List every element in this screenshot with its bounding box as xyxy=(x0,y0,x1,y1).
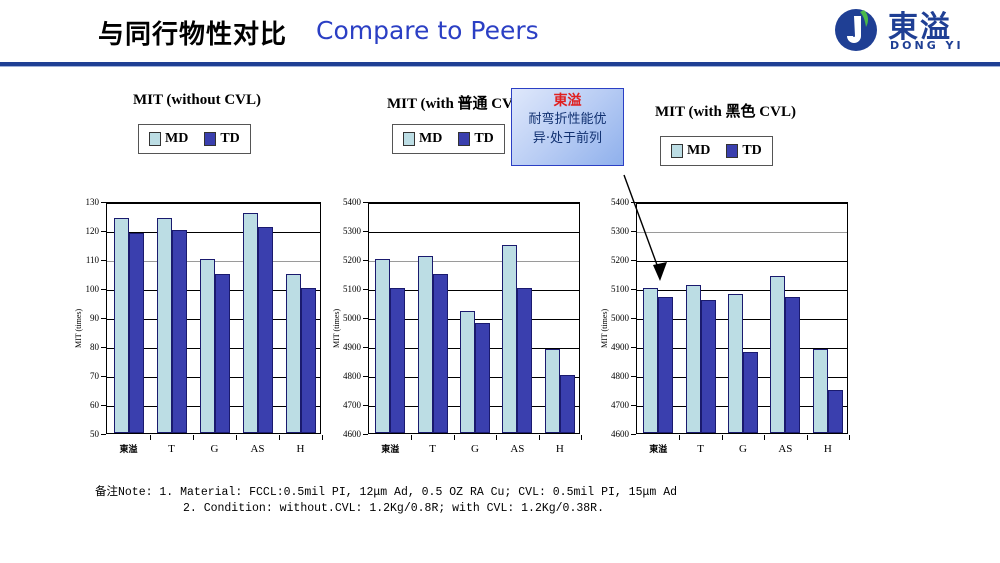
y-tick-label: 5400 xyxy=(330,197,361,207)
company-logo: 東溢 DONG YI xyxy=(834,4,984,58)
x-tickmark xyxy=(539,435,540,440)
legend-label-td: TD xyxy=(474,131,493,147)
y-tickmark xyxy=(101,405,106,406)
footnotes: 备注Note: 1. Material: FCCL:0.5mil PI, 12μ… xyxy=(95,485,925,517)
plot-box: 東溢TGASH xyxy=(106,202,321,434)
x-tickmark xyxy=(322,435,323,440)
legend-swatch-td-icon xyxy=(458,132,470,146)
bar-md-3 xyxy=(502,245,517,434)
bar-td-1 xyxy=(172,230,187,433)
chart-title: MIT (without CVL) xyxy=(72,92,322,109)
y-tickmark xyxy=(101,434,106,435)
x-tick-label: T xyxy=(411,443,453,455)
dongyi-logo-icon xyxy=(834,6,882,54)
y-tickmark xyxy=(101,376,106,377)
legend-item-md: MD xyxy=(149,131,188,147)
x-tickmark xyxy=(807,435,808,440)
y-tickmark xyxy=(363,260,368,261)
x-tickmark xyxy=(581,435,582,440)
legend-item-td: TD xyxy=(204,131,239,147)
bar-md-2 xyxy=(200,259,215,433)
y-tickmark xyxy=(631,347,636,348)
gridline xyxy=(107,203,320,204)
page-title-en: Compare to Peers xyxy=(316,16,539,45)
y-tickmark xyxy=(363,376,368,377)
y-tickmark xyxy=(101,260,106,261)
y-tick-label: 5300 xyxy=(330,226,361,236)
bar-md-3 xyxy=(243,213,258,433)
legend-label-md: MD xyxy=(165,131,188,147)
y-tick-label: 5100 xyxy=(330,284,361,294)
y-tickmark xyxy=(363,405,368,406)
y-tickmark xyxy=(363,231,368,232)
y-tickmark xyxy=(363,289,368,290)
bar-td-1 xyxy=(433,274,448,434)
chart-legend: MD TD xyxy=(392,124,505,154)
x-tickmark xyxy=(454,435,455,440)
y-tick-label: 4600 xyxy=(330,429,361,439)
y-tickmark xyxy=(363,318,368,319)
y-tick-label: 4800 xyxy=(598,371,629,381)
y-tickmark xyxy=(631,405,636,406)
x-tickmark xyxy=(679,435,680,440)
bar-td-3 xyxy=(258,227,273,433)
bar-md-4 xyxy=(286,274,301,434)
y-tickmark xyxy=(631,318,636,319)
callout-line-1: 耐弯折性能优 xyxy=(512,110,623,129)
page-title-cn: 与同行物性对比 xyxy=(98,14,287,51)
y-tickmark xyxy=(363,347,368,348)
page-header: 与同行物性对比 Compare to Peers 東溢 DONG YI xyxy=(0,0,1000,62)
y-tickmark xyxy=(101,202,106,203)
gridline xyxy=(369,203,579,204)
x-tick-label: AS xyxy=(764,443,806,455)
y-tickmark xyxy=(631,376,636,377)
x-tickmark xyxy=(236,435,237,440)
y-tickmark xyxy=(631,434,636,435)
x-tickmark xyxy=(150,435,151,440)
y-tick-label: 130 xyxy=(72,197,99,207)
x-tick-label: AS xyxy=(496,443,538,455)
legend-label-td: TD xyxy=(742,143,761,159)
legend-item-td: TD xyxy=(726,143,761,159)
y-tickmark xyxy=(101,318,106,319)
bar-td-2 xyxy=(215,274,230,434)
footnote-line-1: 备注Note: 1. Material: FCCL:0.5mil PI, 12μ… xyxy=(95,485,925,501)
plot-box: 東溢TGASH xyxy=(368,202,580,434)
y-tick-label: 90 xyxy=(72,313,99,323)
y-tick-label: 60 xyxy=(72,400,99,410)
x-tickmark xyxy=(764,435,765,440)
x-tick-label: H xyxy=(807,443,849,455)
logo-text-en: DONG YI xyxy=(890,39,964,52)
header-divider-thin xyxy=(0,66,1000,67)
legend-label-td: TD xyxy=(220,131,239,147)
bar-td-2 xyxy=(475,323,490,433)
legend-swatch-td-icon xyxy=(204,132,216,146)
bar-md-0 xyxy=(114,218,129,433)
y-tick-label: 5200 xyxy=(330,255,361,265)
x-tick-label: G xyxy=(454,443,496,455)
bar-td-4 xyxy=(560,375,575,433)
highlight-callout: 東溢 耐弯折性能优 异·处于前列 xyxy=(511,88,624,166)
x-tick-label: AS xyxy=(236,443,279,455)
x-tick-label: G xyxy=(722,443,764,455)
legend-swatch-md-icon xyxy=(149,132,161,146)
x-tickmark xyxy=(411,435,412,440)
bar-md-1 xyxy=(686,285,701,433)
y-tick-label: 4900 xyxy=(598,342,629,352)
y-tick-label: 5000 xyxy=(330,313,361,323)
y-tickmark xyxy=(101,347,106,348)
y-tick-label: 100 xyxy=(72,284,99,294)
chart-panel-without-cvl: MIT (without CVL) MD TD MIT (times)東溢TGA… xyxy=(72,92,322,482)
y-tickmark xyxy=(101,289,106,290)
bar-td-1 xyxy=(701,300,716,433)
y-tickmark xyxy=(363,202,368,203)
y-tick-label: 4900 xyxy=(330,342,361,352)
legend-swatch-td-icon xyxy=(726,144,738,158)
bar-td-0 xyxy=(129,233,144,433)
y-tick-label: 4600 xyxy=(598,429,629,439)
y-tick-label: 4700 xyxy=(330,400,361,410)
x-tick-label: G xyxy=(193,443,236,455)
y-tick-label: 50 xyxy=(72,429,99,439)
bar-td-4 xyxy=(301,288,316,433)
x-tick-label: 東溢 xyxy=(369,442,411,455)
gridline xyxy=(369,261,579,262)
bar-md-0 xyxy=(643,288,658,433)
y-tick-label: 5000 xyxy=(598,313,629,323)
bar-md-1 xyxy=(418,256,433,433)
y-tick-label: 120 xyxy=(72,226,99,236)
bar-td-3 xyxy=(517,288,532,433)
x-tick-label: 東溢 xyxy=(107,442,150,455)
x-tickmark xyxy=(496,435,497,440)
y-tickmark xyxy=(363,434,368,435)
footnote-line-2: 2. Condition: without.CVL: 1.2Kg/0.8R; w… xyxy=(95,501,925,517)
bar-md-2 xyxy=(460,311,475,433)
legend-label-md: MD xyxy=(687,143,710,159)
bar-td-4 xyxy=(828,390,843,434)
bar-td-3 xyxy=(785,297,800,433)
callout-line-2: 异·处于前列 xyxy=(512,129,623,148)
legend-item-md: MD xyxy=(403,131,442,147)
x-tick-label: T xyxy=(150,443,193,455)
bar-md-1 xyxy=(157,218,172,433)
bar-md-4 xyxy=(813,349,828,433)
bar-md-3 xyxy=(770,276,785,433)
callout-arrow-icon xyxy=(620,95,680,295)
gridline xyxy=(369,232,579,233)
bar-td-0 xyxy=(390,288,405,433)
plot-area: MIT (times)東溢TGASH4600470048004900500051… xyxy=(330,202,585,482)
y-tick-label: 4800 xyxy=(330,371,361,381)
y-tick-label: 70 xyxy=(72,371,99,381)
legend-label-md: MD xyxy=(419,131,442,147)
y-tick-label: 80 xyxy=(72,342,99,352)
bar-md-0 xyxy=(375,259,390,433)
x-tick-label: H xyxy=(539,443,581,455)
y-tick-label: 4700 xyxy=(598,400,629,410)
legend-swatch-md-icon xyxy=(403,132,415,146)
bar-td-2 xyxy=(743,352,758,433)
plot-area: MIT (times)東溢TGASH5060708090100110120130 xyxy=(72,202,322,482)
chart-legend: MD TD xyxy=(138,124,251,154)
callout-title: 東溢 xyxy=(512,93,623,110)
bar-td-0 xyxy=(658,297,673,433)
x-tick-label: H xyxy=(279,443,322,455)
x-tickmark xyxy=(279,435,280,440)
x-tick-label: T xyxy=(679,443,721,455)
x-tickmark xyxy=(849,435,850,440)
x-tick-label: 東溢 xyxy=(637,442,679,455)
legend-item-td: TD xyxy=(458,131,493,147)
bar-md-2 xyxy=(728,294,743,433)
y-tick-label: 110 xyxy=(72,255,99,265)
x-tickmark xyxy=(193,435,194,440)
x-tickmark xyxy=(722,435,723,440)
bar-md-4 xyxy=(545,349,560,433)
y-tickmark xyxy=(101,231,106,232)
